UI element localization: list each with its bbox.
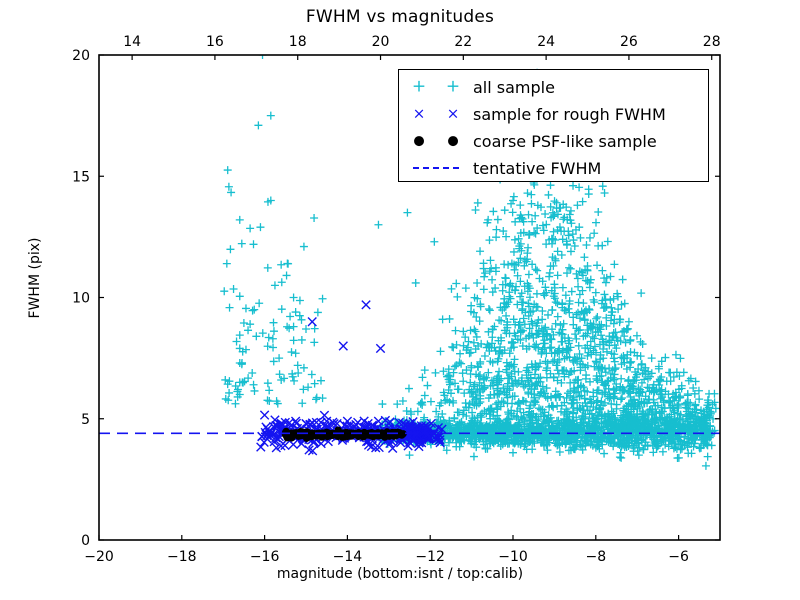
legend-item-label: sample for rough FWHM: [473, 105, 666, 124]
x-tick-label-bottom: −20: [84, 549, 114, 565]
x-tick-label-top: 26: [620, 34, 638, 50]
legend: ++all sample××sample for rough FWHM●●coa…: [398, 69, 709, 182]
x-tick-label-bottom: −6: [668, 549, 689, 565]
x-tick-label-top: 16: [206, 34, 224, 50]
x-tick-label-top: 20: [372, 34, 390, 50]
y-tick-label: 20: [72, 48, 90, 64]
x-tick-label-bottom: −14: [333, 549, 363, 565]
x-tick-label-bottom: −12: [415, 549, 445, 565]
x-tick-label-top: 24: [537, 34, 555, 50]
y-axis-label: FWHM (pix): [27, 188, 43, 368]
x-tick-label-bottom: −16: [250, 549, 280, 565]
x-tick-label-bottom: −8: [585, 549, 606, 565]
legend-item[interactable]: tentative FWHM: [399, 154, 710, 182]
x-tick-label-top: 22: [454, 34, 472, 50]
x-axis-label: magnitude (bottom:isnt / top:calib): [0, 566, 800, 582]
legend-item[interactable]: ++all sample: [399, 73, 710, 101]
x-tick-label-top: 18: [289, 34, 307, 50]
y-tick-label: 0: [81, 533, 90, 549]
legend-item-label: tentative FWHM: [473, 159, 601, 178]
figure-canvas: FWHM vs magnitudes −20−18−16−14−12−10−8−…: [0, 0, 800, 600]
legend-item-label: all sample: [473, 78, 555, 97]
y-tick-label: 5: [81, 412, 90, 428]
y-tick-label: 15: [72, 169, 90, 185]
legend-item-label: coarse PSF-like sample: [473, 132, 657, 151]
y-tick-label: 10: [72, 291, 90, 307]
legend-item[interactable]: ××sample for rough FWHM: [399, 100, 710, 128]
x-tick-label-top: 28: [703, 34, 721, 50]
legend-marker-cross-icon: ××: [399, 100, 473, 128]
legend-marker-plus-icon: ++: [399, 73, 473, 101]
x-tick-label-top: 14: [123, 34, 141, 50]
x-tick-label-bottom: −18: [167, 549, 197, 565]
legend-marker-dot-icon: ●●: [399, 127, 473, 155]
x-tick-label-bottom: −10: [498, 549, 528, 565]
legend-item[interactable]: ●●coarse PSF-like sample: [399, 127, 710, 155]
legend-marker-dashed-line-icon: [399, 154, 473, 182]
